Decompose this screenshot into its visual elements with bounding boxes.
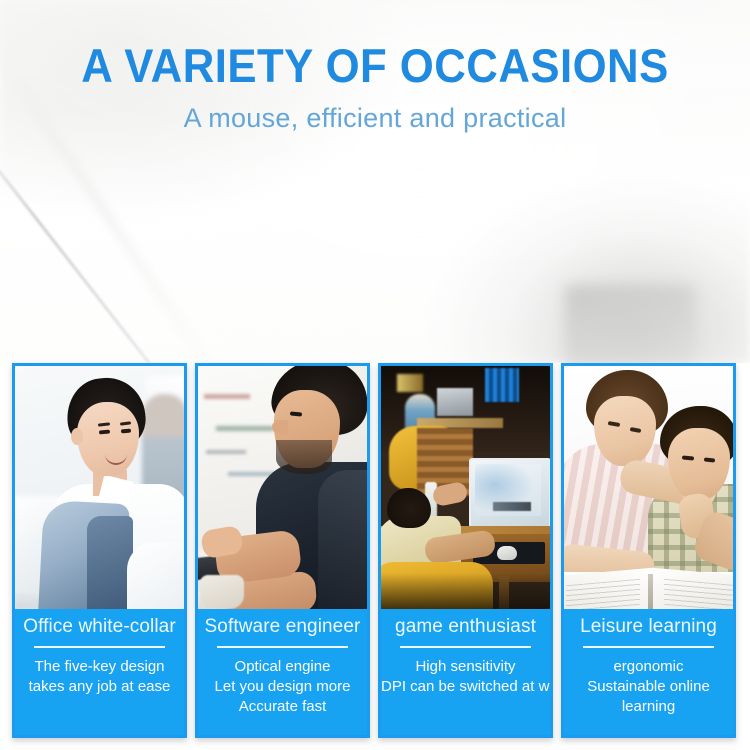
caption-line: Let you design more bbox=[198, 677, 367, 697]
caption-leisure-learning: Leisure learning ergonomic Sustainable o… bbox=[564, 609, 733, 735]
photo-software-engineer bbox=[198, 366, 367, 609]
occasion-panel-row: Office white-collar The five-key design … bbox=[12, 363, 742, 738]
caption-line: ergonomic bbox=[564, 657, 733, 677]
caption-line: DPI can be switched at will bbox=[381, 677, 550, 697]
caption-game-enthusiast: game enthusiast High sensitivity DPI can… bbox=[381, 609, 550, 735]
caption-line: High sensitivity bbox=[381, 657, 550, 677]
caption-divider bbox=[583, 646, 715, 648]
caption-body: ergonomic Sustainable online learning bbox=[564, 657, 733, 717]
caption-line: takes any job at ease bbox=[15, 677, 184, 697]
caption-line: learning bbox=[564, 697, 733, 717]
occasion-panel-software-engineer[interactable]: Software engineer Optical engine Let you… bbox=[195, 363, 370, 738]
caption-line: Optical engine bbox=[198, 657, 367, 677]
photo-game-enthusiast bbox=[381, 366, 550, 609]
page-title: A VARIETY OF OCCASIONS bbox=[26, 40, 724, 92]
caption-title: Leisure learning bbox=[564, 614, 733, 639]
caption-body: The five-key design takes any job at eas… bbox=[15, 657, 184, 697]
caption-line: Accurate fast bbox=[198, 697, 367, 717]
occasion-panel-office[interactable]: Office white-collar The five-key design … bbox=[12, 363, 187, 738]
occasion-panel-leisure-learning[interactable]: Leisure learning ergonomic Sustainable o… bbox=[561, 363, 736, 738]
occasion-panel-game-enthusiast[interactable]: game enthusiast High sensitivity DPI can… bbox=[378, 363, 553, 738]
photo-leisure-learning bbox=[564, 366, 733, 609]
caption-software-engineer: Software engineer Optical engine Let you… bbox=[198, 609, 367, 735]
caption-title: Office white-collar bbox=[15, 614, 184, 639]
page-subtitle: A mouse, efficient and practical bbox=[0, 102, 750, 134]
caption-divider bbox=[400, 646, 532, 648]
caption-body: Optical engine Let you design more Accur… bbox=[198, 657, 367, 717]
caption-divider bbox=[34, 646, 166, 648]
caption-title: game enthusiast bbox=[381, 614, 550, 639]
caption-office: Office white-collar The five-key design … bbox=[15, 609, 184, 735]
caption-body: High sensitivity DPI can be switched at … bbox=[381, 657, 550, 697]
caption-title: Software engineer bbox=[198, 614, 367, 639]
caption-line: The five-key design bbox=[15, 657, 184, 677]
caption-line: Sustainable online bbox=[564, 677, 733, 697]
header-block: A VARIETY OF OCCASIONS A mouse, efficien… bbox=[0, 0, 750, 134]
caption-divider bbox=[217, 646, 349, 648]
photo-office-white-collar bbox=[15, 366, 184, 609]
promo-banner: A VARIETY OF OCCASIONS A mouse, efficien… bbox=[0, 0, 750, 750]
